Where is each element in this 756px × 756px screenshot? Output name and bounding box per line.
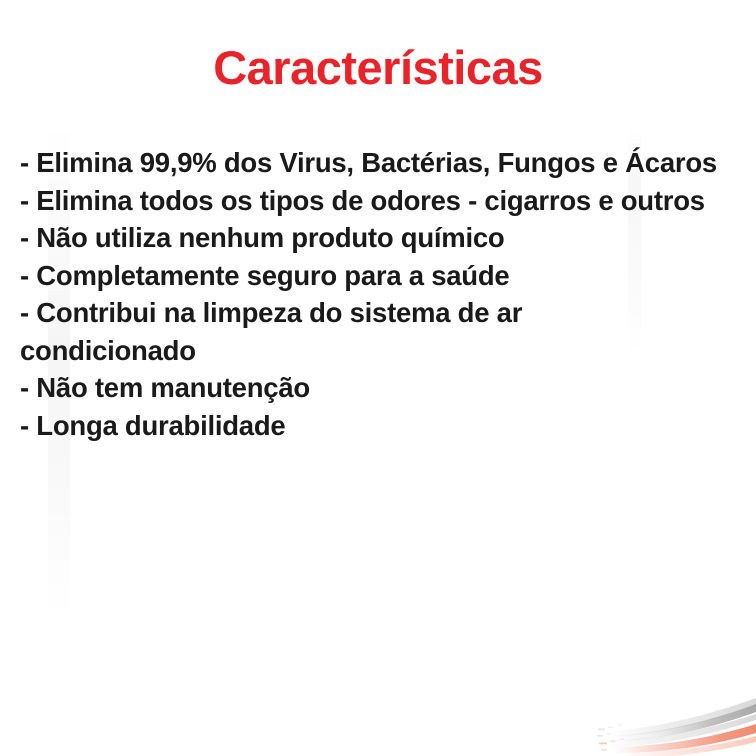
- list-item: - Longa durabilidade: [20, 407, 746, 445]
- swoosh-ribbon-icon: [596, 692, 756, 756]
- swoosh-band-gray: [612, 704, 756, 742]
- list-item: - Elimina todos os tipos de odores - cig…: [20, 182, 746, 220]
- swoosh-band-light-salmon: [620, 736, 756, 756]
- list-item: - Completamente seguro para a saúde: [20, 257, 746, 295]
- swoosh-speckles: [597, 725, 624, 751]
- features-list: - Elimina 99,9% dos Virus, Bactérias, Fu…: [20, 144, 746, 444]
- slide-title: Características: [0, 42, 756, 94]
- list-item: - Contribui na limpeza do sistema de ar: [20, 294, 746, 332]
- slide-canvas: Características - Elimina 99,9% dos Viru…: [0, 0, 756, 756]
- list-item: - Não utiliza nenhum produto químico: [20, 219, 746, 257]
- swoosh-band-salmon: [614, 724, 756, 753]
- list-item-continuation: condicionado: [20, 332, 746, 370]
- swoosh-band-light-gray: [606, 698, 756, 738]
- list-item: - Elimina 99,9% dos Virus, Bactérias, Fu…: [20, 144, 746, 182]
- list-item: - Não tem manutenção: [20, 369, 746, 407]
- swoosh-band-light-gray-2: [608, 714, 756, 747]
